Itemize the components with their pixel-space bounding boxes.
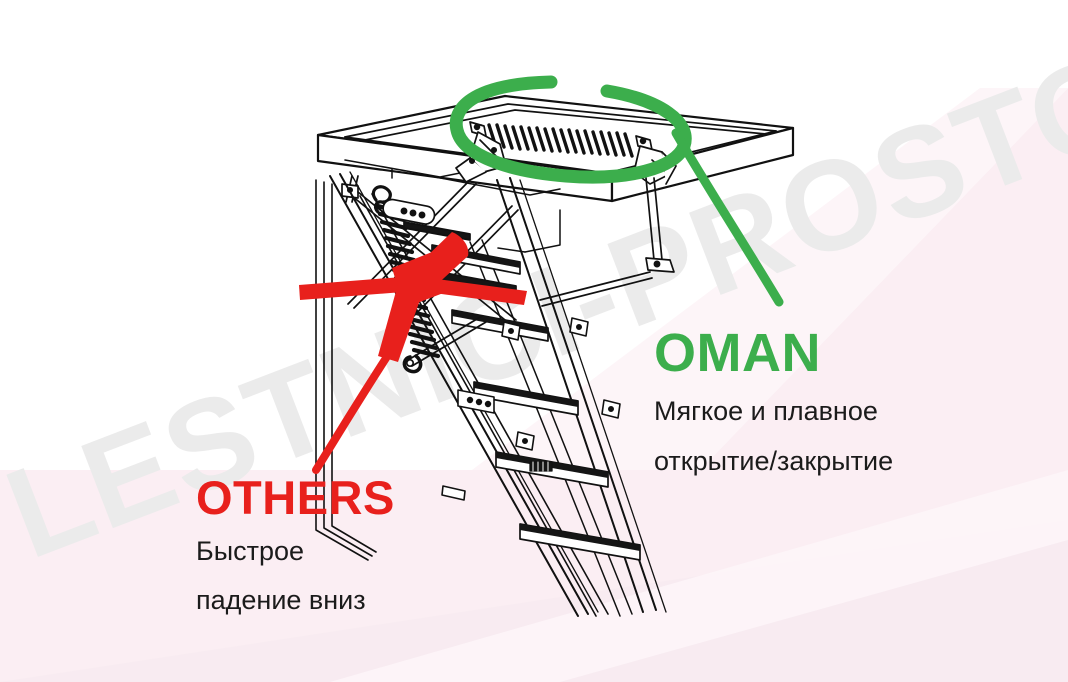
green-ellipse-highlight — [456, 82, 685, 177]
oman-line-1: Мягкое и плавное — [654, 392, 893, 430]
callout-others: OTHERS Быстрое падение вниз — [196, 474, 395, 620]
red-pointer-tail — [316, 352, 390, 470]
infographic-canvas: LESTNICI-PROSTO.RU — [0, 0, 1068, 682]
callout-oman: OMAN Мягкое и плавное открытие/закрытие — [654, 326, 893, 481]
marker-annotations — [0, 0, 1068, 682]
red-arrow-highlight — [299, 232, 527, 362]
others-line-2: падение вниз — [196, 581, 395, 619]
others-heading: OTHERS — [196, 474, 395, 521]
oman-heading: OMAN — [654, 326, 893, 380]
oman-line-2: открытие/закрытие — [654, 442, 893, 480]
others-line-1: Быстрое — [196, 532, 395, 570]
green-pointer-tail — [676, 133, 779, 302]
